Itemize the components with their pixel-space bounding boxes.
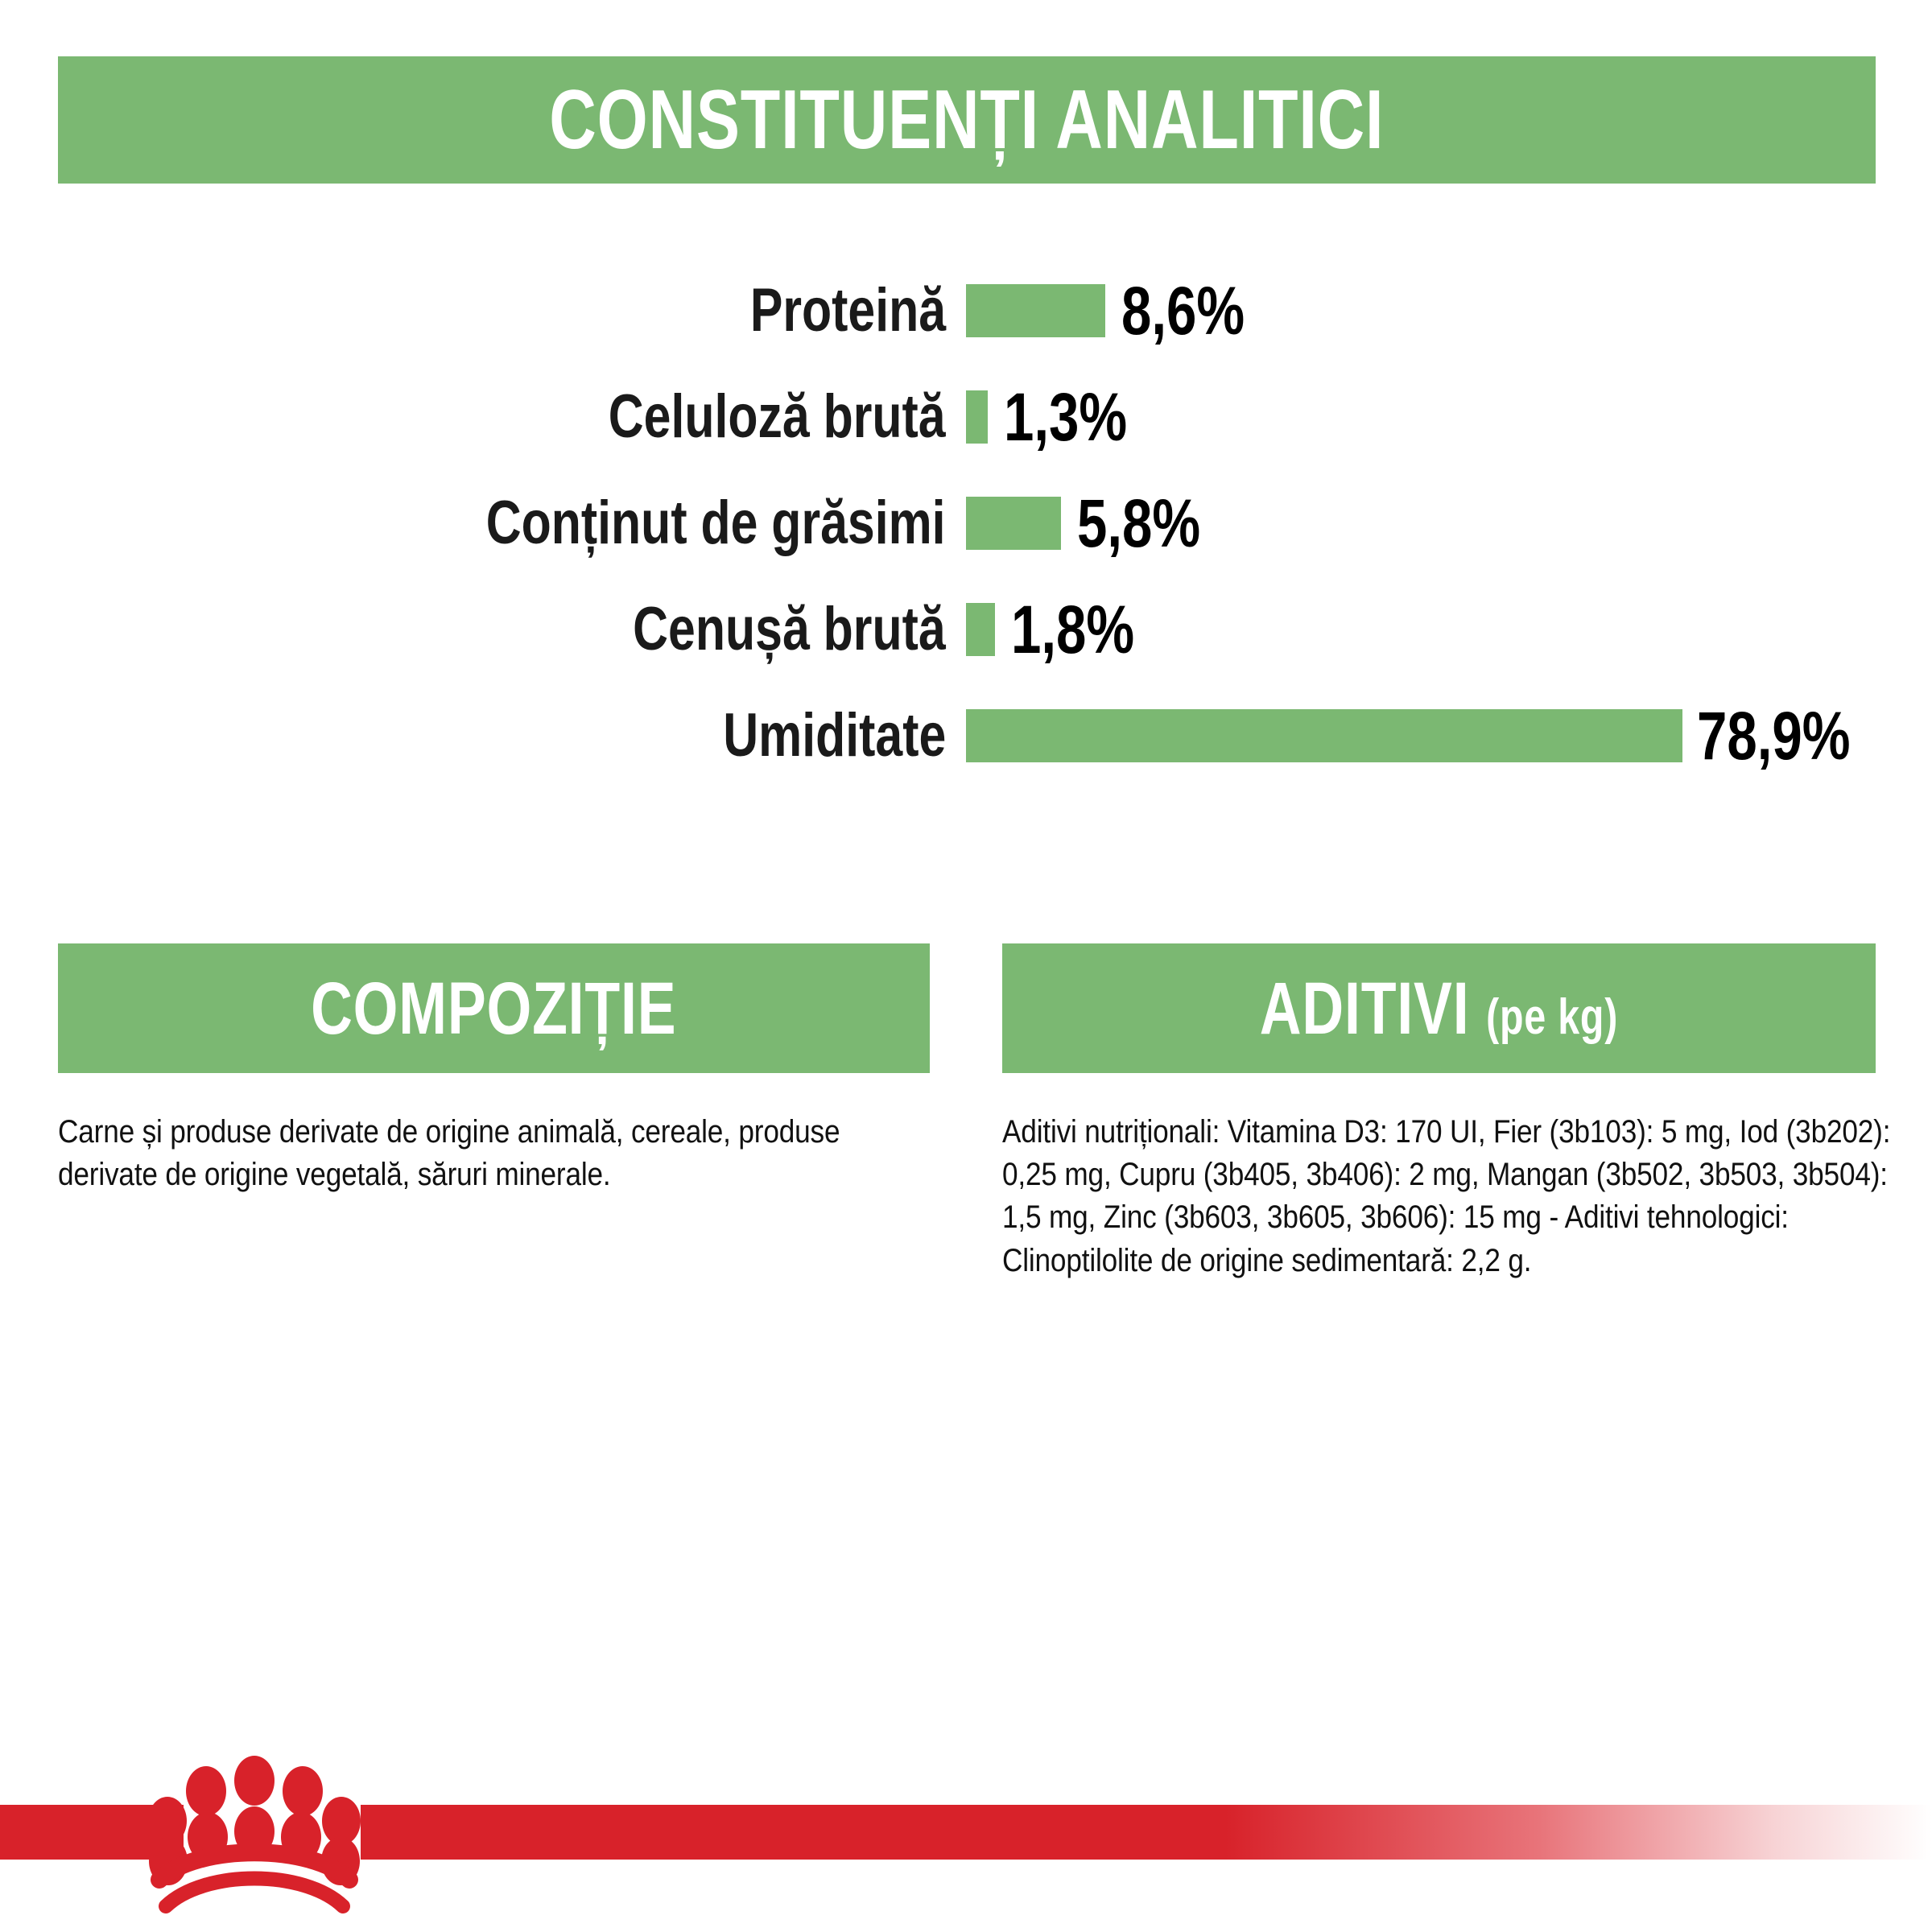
chart-row-label: Umiditate [723,705,946,766]
footer-bar-right [361,1805,1932,1860]
chart-row: Umiditate 78,9% [0,683,1932,789]
chart-row-value: 5,8% [1077,489,1200,557]
chart-row-label: Conținut de grăsimi [486,493,946,554]
royal-canin-crown-icon [142,1747,367,1932]
chart-row-bar [966,709,1682,762]
additives-body-text: Aditivi nutriționali: Vitamina D3: 170 U… [1002,1111,1916,1282]
chart-row-value: 1,3% [1004,383,1127,451]
chart-row: Celuloză brută 1,3% [0,364,1932,470]
chart-row-value: 78,9% [1697,702,1851,770]
chart-row: Conținut de grăsimi 5,8% [0,470,1932,576]
chart-row: Cenușă brută 1,8% [0,576,1932,683]
additives-header: ADITIVI (pe kg) [1002,943,1876,1073]
chart-row-bar [966,284,1105,337]
chart-row-label: Cenușă brută [633,599,946,660]
chart-row-bar [966,603,995,656]
chart-row-value: 1,8% [1011,596,1134,663]
chart-row: Proteină 8,6% [0,258,1932,364]
analytical-constituents-title: CONSTITUENȚI ANALITICI [549,78,1384,162]
analytical-constituents-header: CONSTITUENȚI ANALITICI [58,56,1876,184]
additives-title: ADITIVI [1260,968,1470,1050]
chart-row-label: Proteină [750,280,946,341]
chart-row-label: Celuloză brută [609,386,946,448]
chart-row-bar [966,497,1061,550]
footer [0,1747,1932,1932]
chart-row-value: 8,6% [1121,277,1245,345]
composition-body-text: Carne și produse derivate de origine ani… [58,1111,936,1196]
additives-title-wrap: ADITIVI (pe kg) [1260,972,1618,1046]
chart-row-bar [966,390,988,444]
analytical-constituents-chart: Proteină 8,6% Celuloză brută 1,3% Conțin… [0,258,1932,789]
additives-subtitle: (pe kg) [1486,989,1618,1045]
composition-header: COMPOZIȚIE [58,943,930,1073]
composition-title: COMPOZIȚIE [311,972,676,1046]
